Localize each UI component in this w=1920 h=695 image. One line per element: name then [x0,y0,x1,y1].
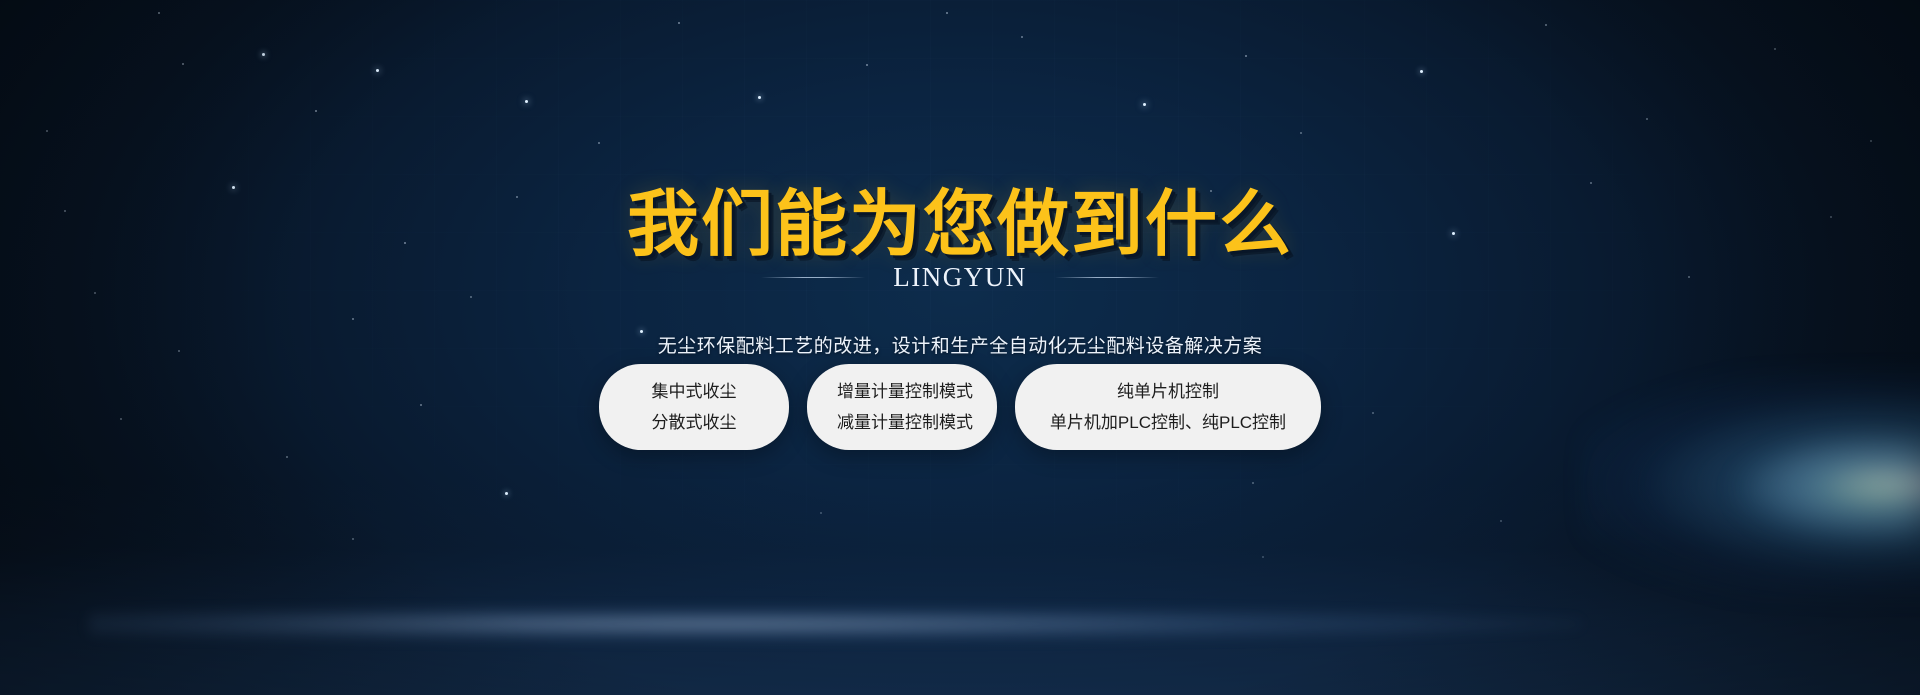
banner-content: 我们能为您做到什么 LINGYUN 无尘环保配料工艺的改进，设计和生产全自动化无… [0,0,1920,695]
star-particle [758,96,761,99]
star-particle [315,110,317,112]
star-particle [158,12,160,14]
divider-line-left [761,277,865,278]
star-particle [1143,103,1146,106]
star-particle [946,12,948,14]
star-particle [1590,182,1592,184]
star-particle [352,538,354,540]
feature-card-line: 集中式收尘 [629,383,759,400]
hero-banner: 我们能为您做到什么 LINGYUN 无尘环保配料工艺的改进，设计和生产全自动化无… [0,0,1920,695]
star-particle [866,64,868,66]
star-particle [1870,140,1872,142]
feature-card-line: 纯单片机控制 [1045,383,1291,400]
star-particle [376,69,379,72]
star-particle [820,512,822,514]
star-particle [352,318,354,320]
star-particle [598,142,600,144]
star-particle [1646,118,1648,120]
wave-crest-highlight [89,607,1582,641]
particle-wave-field [0,478,1920,695]
star-particle [1245,55,1247,57]
star-particle [262,53,265,56]
right-edge-light-flare [1734,435,1914,545]
feature-card-line: 分散式收尘 [629,414,759,431]
feature-card[interactable]: 集中式收尘 分散式收尘 [599,364,789,450]
star-particle [1252,482,1254,484]
star-particle [1262,556,1264,558]
star-particle [505,492,508,495]
feature-card-line: 减量计量控制模式 [837,414,967,431]
star-particle [286,456,288,458]
star-particle [525,100,528,103]
star-particle [1300,132,1302,134]
feature-card-line: 增量计量控制模式 [837,383,967,400]
feature-card[interactable]: 增量计量控制模式 减量计量控制模式 [807,364,997,450]
star-particle [46,130,48,132]
star-particle [678,22,680,24]
brand-eyebrow-row: LINGYUN [0,262,1920,293]
star-particle [1774,48,1776,50]
star-particle [1021,36,1023,38]
wave-haze [0,483,1920,695]
feature-card[interactable]: 纯单片机控制 单片机加PLC控制、纯PLC控制 [1015,364,1321,450]
divider-line-right [1055,277,1159,278]
star-particle [1420,70,1423,73]
page-subtitle: 无尘环保配料工艺的改进，设计和生产全自动化无尘配料设备解决方案 [0,331,1920,358]
page-title: 我们能为您做到什么 [0,188,1920,260]
star-particle [470,296,472,298]
brand-name: LINGYUN [893,262,1026,293]
star-particle [182,63,184,65]
feature-card-line: 单片机加PLC控制、纯PLC控制 [1045,414,1291,431]
star-particle [1500,520,1502,522]
star-particle [1545,24,1547,26]
feature-card-list: 集中式收尘 分散式收尘 增量计量控制模式 减量计量控制模式 纯单片机控制 单片机… [0,364,1920,450]
